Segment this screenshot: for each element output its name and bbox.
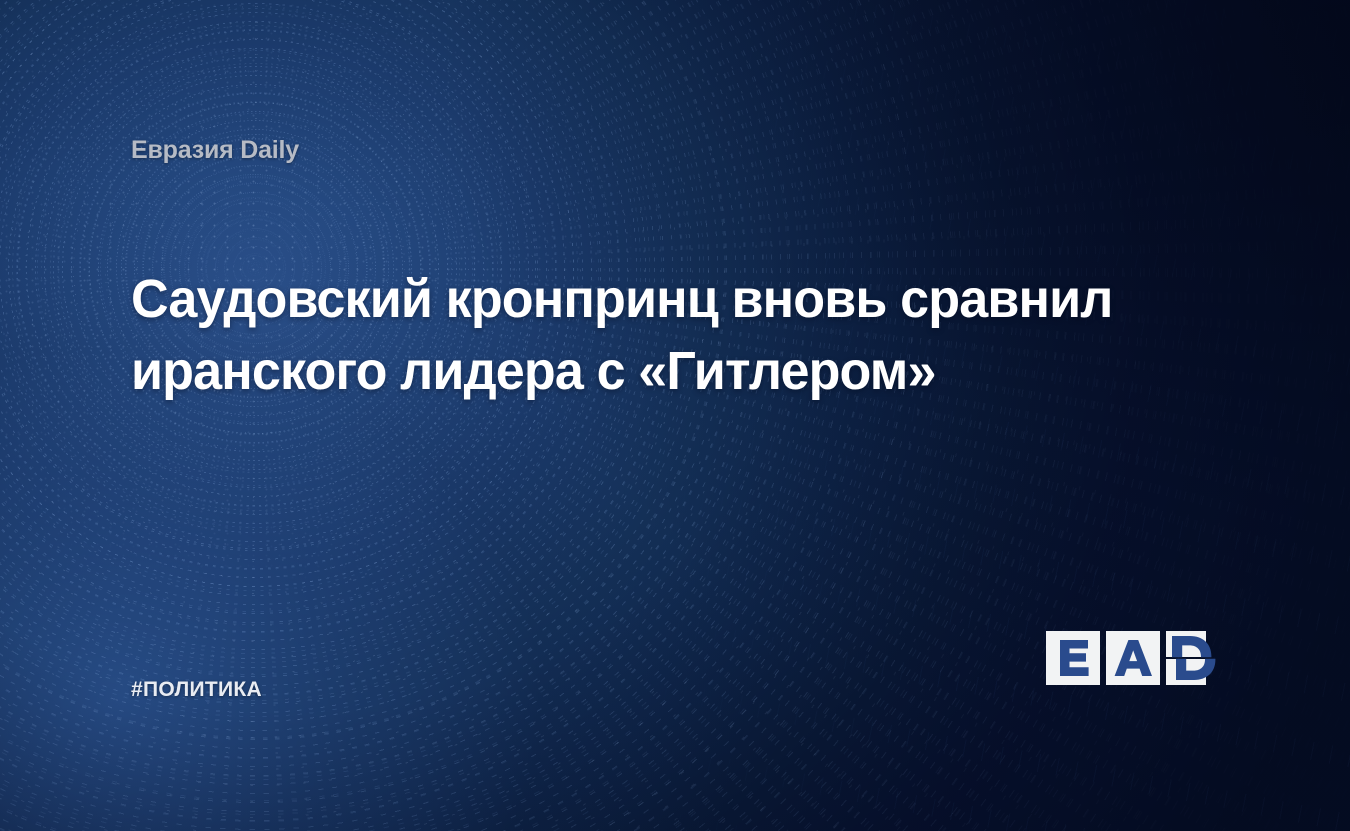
logo-tile-e — [1046, 631, 1100, 685]
logo-letter-e-icon — [1046, 631, 1100, 685]
logo-letter-a-icon — [1106, 631, 1160, 685]
logo-tile-a — [1106, 631, 1160, 685]
page-title: Саудовский кронпринц вновь сравнил иранс… — [131, 263, 1154, 407]
brand-name: Евразия Daily — [131, 136, 299, 165]
logo-letter-d-icon — [1166, 631, 1220, 685]
category-tag-politics[interactable]: #ПОЛИТИКА — [131, 678, 262, 702]
card-content: Евразия Daily Саудовский кронпринц вновь… — [0, 0, 1350, 831]
news-share-card: Евразия Daily Саудовский кронпринц вновь… — [0, 0, 1350, 831]
eadaily-logo — [1046, 631, 1221, 685]
logo-tile-d — [1166, 631, 1220, 685]
